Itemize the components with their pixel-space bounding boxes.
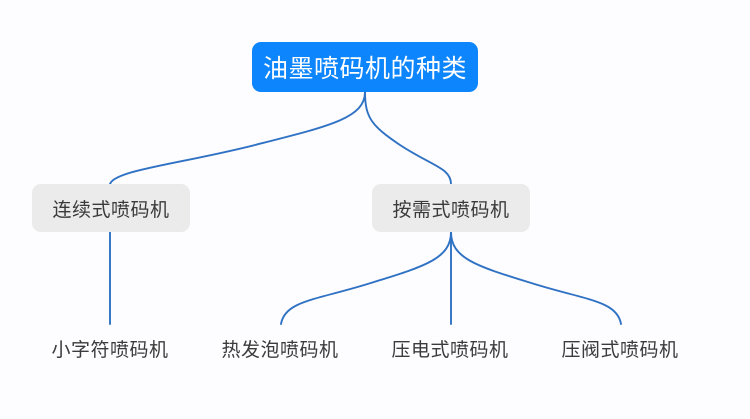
- edge-ondemand-to-thermal: [281, 232, 451, 324]
- root-node-label: 油墨喷码机的种类: [263, 49, 467, 85]
- root-node[interactable]: 油墨喷码机的种类: [252, 42, 478, 92]
- branch-node-continuous-label: 连续式喷码机: [52, 195, 169, 222]
- branch-node-ondemand-label: 按需式喷码机: [392, 195, 509, 222]
- leaf-node-small-character[interactable]: 小字符喷码机: [25, 333, 195, 363]
- leaf-node-piezoelectric-label: 压电式喷码机: [391, 335, 508, 362]
- mind-map-canvas: 油墨喷码机的种类 连续式喷码机 按需式喷码机 小字符喷码机 热发泡喷码机 压电式…: [0, 0, 750, 419]
- branch-node-ondemand[interactable]: 按需式喷码机: [372, 184, 530, 232]
- leaf-node-small-character-label: 小字符喷码机: [51, 335, 168, 362]
- leaf-node-pressure-valve-label: 压阀式喷码机: [561, 335, 678, 362]
- leaf-node-thermal-foam[interactable]: 热发泡喷码机: [195, 333, 365, 363]
- leaf-node-pressure-valve[interactable]: 压阀式喷码机: [535, 333, 705, 363]
- leaf-node-piezoelectric[interactable]: 压电式喷码机: [365, 333, 535, 363]
- edge-ondemand-to-valve: [451, 232, 621, 324]
- branch-node-continuous[interactable]: 连续式喷码机: [32, 184, 190, 232]
- leaf-node-thermal-foam-label: 热发泡喷码机: [221, 335, 338, 362]
- edge-root-to-ondemand: [365, 92, 451, 184]
- edge-root-to-continuous: [110, 92, 365, 184]
